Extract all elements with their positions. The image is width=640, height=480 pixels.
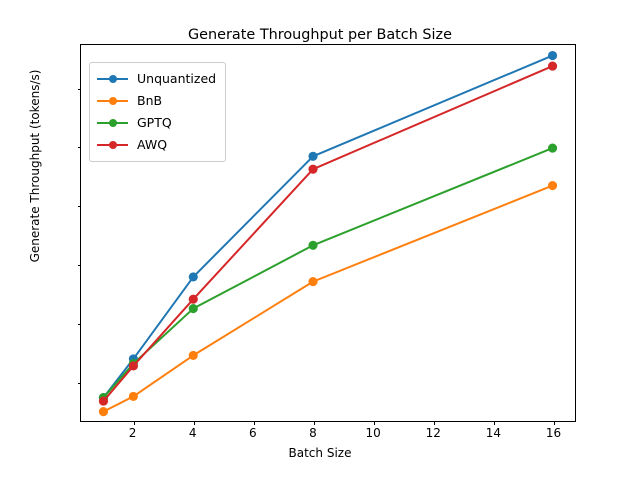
legend-swatch-icon bbox=[97, 117, 128, 129]
legend-swatch-icon bbox=[97, 139, 128, 151]
legend-item-awq[interactable]: AWQ bbox=[97, 134, 216, 156]
x-tick-label: 14 bbox=[463, 426, 523, 440]
x-tick-mark bbox=[134, 421, 135, 425]
x-tick-label: 10 bbox=[343, 426, 403, 440]
data-point-marker bbox=[189, 351, 198, 360]
legend-dot-icon bbox=[109, 97, 117, 105]
series-line-gptq bbox=[103, 148, 552, 397]
legend-label: BnB bbox=[137, 95, 162, 108]
x-tick-mark bbox=[254, 421, 255, 425]
x-tick-label: 4 bbox=[163, 426, 223, 440]
legend-label: AWQ bbox=[137, 139, 167, 152]
x-tick-mark bbox=[194, 421, 195, 425]
legend-dot-icon bbox=[109, 119, 117, 127]
y-tick-mark bbox=[78, 147, 82, 148]
data-point-marker bbox=[308, 152, 317, 161]
y-axis-label: Generate Throughput (tokens/s) bbox=[28, 0, 42, 376]
data-point-marker bbox=[308, 241, 317, 250]
x-tick-label: 8 bbox=[283, 426, 343, 440]
data-point-marker bbox=[548, 51, 557, 60]
legend-label: GPTQ bbox=[137, 117, 172, 130]
x-tick-mark bbox=[434, 421, 435, 425]
y-tick-mark bbox=[78, 89, 82, 90]
legend-label: Unquantized bbox=[137, 73, 216, 86]
data-point-marker bbox=[548, 144, 557, 153]
x-tick-label: 12 bbox=[403, 426, 463, 440]
data-point-marker bbox=[548, 62, 557, 71]
data-point-marker bbox=[189, 272, 198, 281]
series-line-bnb bbox=[103, 186, 552, 412]
legend-swatch-icon bbox=[97, 95, 128, 107]
y-tick-mark bbox=[78, 324, 82, 325]
x-tick-mark bbox=[494, 421, 495, 425]
legend-dot-icon bbox=[109, 75, 117, 83]
data-point-marker bbox=[308, 277, 317, 286]
x-tick-mark bbox=[374, 421, 375, 425]
legend-swatch-icon bbox=[97, 73, 128, 85]
data-point-marker bbox=[189, 295, 198, 304]
x-tick-label: 2 bbox=[103, 426, 163, 440]
x-tick-label: 6 bbox=[223, 426, 283, 440]
data-point-marker bbox=[308, 165, 317, 174]
data-point-marker bbox=[548, 181, 557, 190]
chart-legend: UnquantizedBnBGPTQAWQ bbox=[89, 62, 226, 162]
legend-dot-icon bbox=[109, 141, 117, 149]
data-point-marker bbox=[129, 361, 138, 370]
data-point-marker bbox=[99, 397, 108, 406]
x-tick-mark bbox=[314, 421, 315, 425]
y-tick-mark bbox=[78, 206, 82, 207]
legend-item-gptq[interactable]: GPTQ bbox=[97, 112, 216, 134]
x-tick-label: 16 bbox=[523, 426, 583, 440]
y-tick-mark bbox=[78, 383, 82, 384]
data-point-marker bbox=[189, 304, 198, 313]
chart-title: Generate Throughput per Batch Size bbox=[0, 27, 640, 43]
x-axis-label: Batch Size bbox=[0, 446, 640, 460]
legend-item-unquantized[interactable]: Unquantized bbox=[97, 68, 216, 90]
x-tick-mark bbox=[554, 421, 555, 425]
chart-figure: Generate Throughput per Batch Size Gener… bbox=[0, 0, 640, 480]
data-point-marker bbox=[99, 407, 108, 416]
y-tick-mark bbox=[78, 265, 82, 266]
legend-item-bnb[interactable]: BnB bbox=[97, 90, 216, 112]
data-point-marker bbox=[129, 392, 138, 401]
